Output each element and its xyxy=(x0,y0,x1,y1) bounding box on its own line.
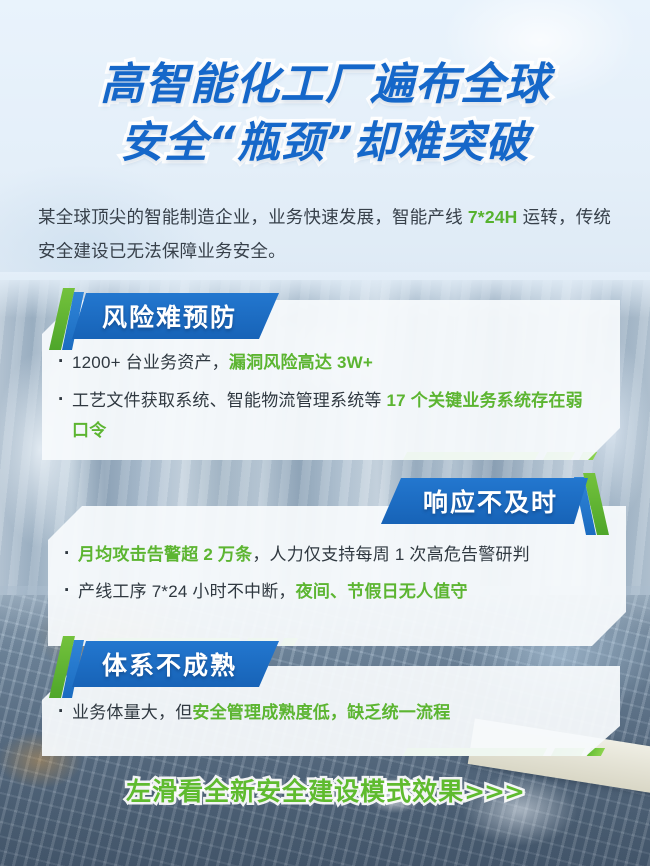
card-1-bullet-1-seg-1: 1200+ 台业务资产， xyxy=(72,353,229,372)
card-3-bullet-1: 业务体量大，但安全管理成熟度低，缺乏统一流程 xyxy=(72,698,450,728)
card-1-banner-label: 风险难预防 xyxy=(72,293,279,339)
card-2-bullet-1-seg-1: 月均攻击告警超 2 万条 xyxy=(78,545,252,564)
card-2-bullet-1: 月均攻击告警超 2 万条，人力仅支持每周 1 次高危告警研判 xyxy=(78,540,530,570)
card-1-bullet-2-seg-1: 工艺文件获取系统、智能物流管理系统等 xyxy=(72,391,387,410)
swipe-cta[interactable]: 左滑看全新安全建设模式效果>>> xyxy=(0,772,650,808)
card-3-banner-label: 体系不成熟 xyxy=(72,641,279,687)
card-2-bullet-1-seg-2: ，人力仅支持每周 1 次高危告警研判 xyxy=(252,545,530,564)
card-1-bullet-1: 1200+ 台业务资产，漏洞风险高达 3W+ xyxy=(72,348,373,378)
card-3-bullet-1-seg-1: 业务体量大，但 xyxy=(72,703,192,722)
intro-paragraph: 某全球顶尖的智能制造企业，业务快速发展，智能产线 7*24H 运转，传统安全建设… xyxy=(38,200,624,268)
page-title: 高智能化工厂遍布全球 安全“瓶颈”却难突破 xyxy=(0,56,650,172)
page-title-line-2: 安全“瓶颈”却难突破 xyxy=(0,114,650,172)
intro-text-part-1: 某全球顶尖的智能制造企业，业务快速发展，智能产线 xyxy=(38,207,468,227)
card-2-banner-label: 响应不及时 xyxy=(381,478,588,524)
card-1-bullet-2: 工艺文件获取系统、智能物流管理系统等 17 个关键业务系统存在弱口令 xyxy=(72,386,596,446)
card-2-bullet-2-seg-2: 夜间、节假日无人值守 xyxy=(296,582,468,601)
issue-card-slow-response xyxy=(48,506,626,646)
poster-canvas: 高智能化工厂遍布全球 安全“瓶颈”却难突破 某全球顶尖的智能制造企业，业务快速发… xyxy=(0,0,650,866)
card-3-bullet-1-seg-2: 安全管理成熟度低，缺乏统一流程 xyxy=(192,703,450,722)
page-title-line-1: 高智能化工厂遍布全球 xyxy=(0,56,650,114)
card-2-bullet-2-seg-1: 产线工序 7*24 小时不中断， xyxy=(78,582,296,601)
swipe-cta-label: 左滑看全新安全建设模式效果 xyxy=(126,777,464,806)
card-2-bullet-2: 产线工序 7*24 小时不中断，夜间、节假日无人值守 xyxy=(78,577,468,607)
intro-highlight: 7*24H xyxy=(468,207,518,227)
chevron-right-icon: >>> xyxy=(464,777,524,806)
card-1-bullet-1-seg-2: 漏洞风险高达 3W+ xyxy=(229,353,373,372)
